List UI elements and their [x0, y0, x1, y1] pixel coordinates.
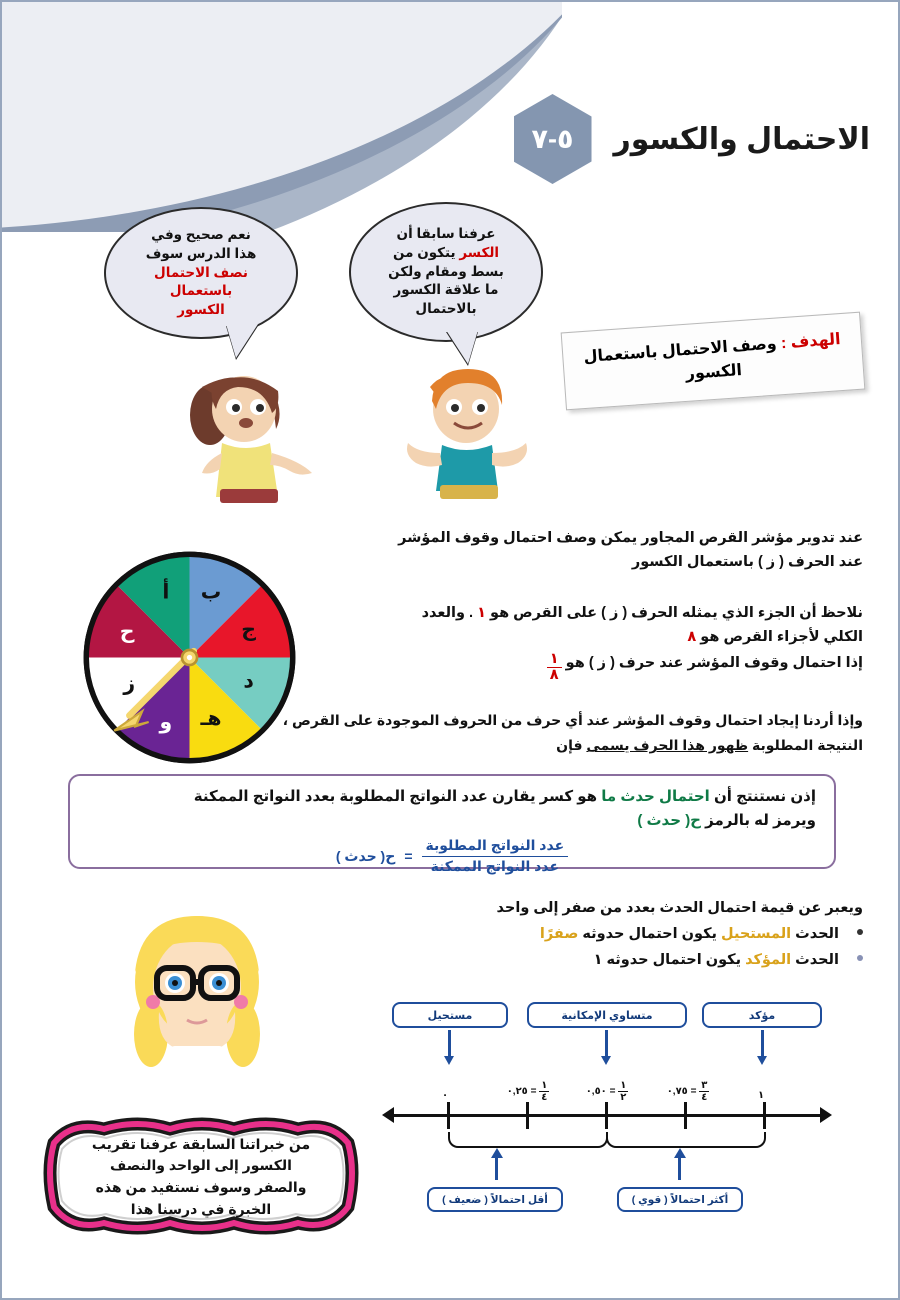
- category-box-impossible: مستحيل: [392, 1002, 508, 1028]
- brace-upper-half: [606, 1132, 766, 1148]
- formula-equals: =: [404, 848, 412, 864]
- speech-bubble-girl: نعم صحيح وفي هذا الدرس سوف نصف الاحتمال …: [104, 207, 298, 339]
- observe-line3-text: إذا احتمال وقوف المؤشر عند حرف ( ز ) هو: [566, 655, 863, 671]
- bullet-impossible-event: الحدث المستحيل يكون احتمال حدوثه صفرًا: [363, 926, 863, 942]
- likelihood-box-more-likely: أكثر احتمالاً ( قوي ): [617, 1187, 743, 1212]
- bullet-1-highlight: المستحيل: [721, 926, 791, 942]
- fraction-quarter-den: ٤: [541, 1092, 547, 1103]
- generalize-line2-a: فإن: [556, 737, 582, 753]
- bullet-2-suffix: ١: [594, 952, 603, 968]
- observe-line2: الكلي لأجزاء القرص هو ٨: [358, 626, 863, 650]
- bullet-1-middle: يكون احتمال حدوثه: [582, 926, 717, 942]
- number-line-endpoint-one: ١: [758, 1090, 764, 1101]
- observe-line1: نلاحظ أن الجزء الذي يمثله الحرف ( ز ) عل…: [358, 602, 863, 626]
- girl-character-illustration: [172, 357, 322, 507]
- axis-tick: [684, 1102, 687, 1129]
- intro-line1: عند تدوير مؤشر القرص المجاور يمكن وصف اح…: [358, 527, 863, 551]
- formula-fraction: عدد النواتج المطلوبة عدد النواتج الممكنة: [422, 837, 569, 875]
- fraction-half-num: ١: [618, 1080, 628, 1092]
- formula-denominator: عدد النواتج الممكنة: [422, 857, 569, 876]
- bullet-certain-event: الحدث المؤكد يكون احتمال حدوثه ١: [363, 952, 863, 968]
- bubble-boy-line5: بالاحتمال: [388, 300, 504, 319]
- generalize-line2: النتيجة المطلوبة ظهور هذا الحرف يسمى فإن: [68, 733, 863, 758]
- bubble-boy-line4: ما علاقة الكسور: [388, 281, 504, 300]
- probability-fraction-numerator: ١: [547, 652, 562, 668]
- speech-bubble-girl-tail: [226, 324, 258, 358]
- fraction-tq-decimal: ٠,٧٥: [667, 1086, 688, 1097]
- bullet-dot-icon: [857, 929, 863, 935]
- boy-character-illustration: [392, 357, 542, 507]
- corner-decoration: [2, 2, 562, 232]
- svg-text:ب: ب: [201, 579, 222, 603]
- speech-bubble-boy: عرفنا سابقا أن الكسر يتكون من بسط ومقام …: [349, 202, 543, 342]
- pink-note-text: من خبراتنا السابقة عرفنا تقريب الكسور إل…: [42, 1117, 360, 1237]
- goal-label: الهدف :: [780, 331, 841, 352]
- intro-line2: عند الحرف ( ز ) باستعمال الكسور: [358, 551, 863, 575]
- page-title: الاحتمال والكسور: [614, 122, 870, 157]
- bubble-boy-line3: بسط ومقام ولكن: [388, 263, 504, 282]
- arrow-up-icon: [491, 1148, 503, 1158]
- formula-numerator: عدد النواتج المطلوبة: [422, 837, 569, 857]
- fraction-half-den: ٢: [620, 1092, 626, 1103]
- fraction-tq-eq: =: [691, 1086, 697, 1097]
- observe-line3: إذا احتمال وقوف المؤشر عند حرف ( ز ) هو …: [358, 652, 863, 683]
- fraction-half-decimal: ٠,٥٠: [586, 1086, 607, 1097]
- probability-number-line-diagram: مستحيل متساوي الإمكانية مؤكد ٠ ١ ١ ٤ = ٠…: [392, 1002, 822, 1212]
- pink-note-line1: من خبراتنا السابقة عرفنا تقريب: [92, 1134, 310, 1156]
- bubble-boy-line1: عرفنا سابقا أن: [388, 225, 504, 244]
- pink-note-frame: من خبراتنا السابقة عرفنا تقريب الكسور إل…: [42, 1117, 360, 1237]
- arrow-down-icon: [757, 1056, 767, 1065]
- likelihood-box-less-likely: أقل احتمالاً ( ضعيف ): [427, 1187, 563, 1212]
- fraction-quarter-num: ١: [539, 1080, 549, 1092]
- fraction-half-eq: =: [610, 1086, 616, 1097]
- fraction-three-quarters: ٣ ٤: [699, 1080, 709, 1103]
- category-box-equally-likely: متساوي الإمكانية: [527, 1002, 687, 1028]
- arrow-down-icon: [444, 1056, 454, 1065]
- svg-text:ج: ج: [241, 617, 256, 642]
- svg-text:أ: أ: [162, 577, 169, 603]
- observe-line1-a: نلاحظ أن الجزء الذي يمثله الحرف ( ز ) عل…: [490, 605, 863, 621]
- definition-box: إذن نستنتج أن احتمال حدث ما هو كسر يقارن…: [68, 774, 836, 869]
- bubble-girl-line5: الكسور: [146, 301, 257, 320]
- definition-line2-symbol: ح( حدث ): [637, 812, 701, 829]
- brace-lower-half: [448, 1132, 608, 1148]
- definition-line1-a: إذن نستنتج أن: [714, 788, 816, 805]
- definition-line2: ويرمز له بالرمز ح( حدث ): [88, 809, 816, 833]
- definition-line1-highlight: احتمال حدث ما: [601, 788, 710, 805]
- svg-text:ز: ز: [122, 671, 135, 695]
- svg-text:د: د: [243, 669, 253, 693]
- fraction-tq-num: ٣: [699, 1080, 709, 1092]
- observe-line1-b: . والعدد: [422, 605, 474, 621]
- observe-line2-a: الكلي لأجزاء القرص هو: [700, 629, 863, 645]
- fraction-label-three-quarters: ٣ ٤ = ٠,٧٥: [648, 1080, 728, 1103]
- fraction-quarter: ١ ٤: [539, 1080, 549, 1103]
- bubble-girl-line4: باستعمال: [146, 282, 257, 301]
- pink-note-line4: الخبرة في درسنا هذا: [92, 1199, 310, 1221]
- pink-note-line3: والصفر وسوف نستفيد من هذه: [92, 1177, 310, 1199]
- arrow-stem-impossible: [448, 1030, 451, 1058]
- definition-line2-a: ويرمز له بالرمز: [705, 812, 816, 829]
- worksheet-page: الاحتمال والكسور ٥-٧ نعم صحيح وفي هذا ال…: [0, 0, 900, 1300]
- probability-formula: عدد النواتج المطلوبة عدد النواتج الممكنة…: [88, 837, 816, 875]
- bubble-boy-line2: الكسر يتكون من: [388, 244, 504, 263]
- definition-line1-b: هو كسر يقارن عدد النواتج المطلوبة بعدد ا…: [194, 788, 597, 805]
- arrow-down-icon: [601, 1056, 611, 1065]
- lesson-goal-note: الهدف : وصف الاحتمال باستعمال الكسور: [561, 312, 866, 411]
- bullet-1-suffix: صفرًا: [540, 926, 578, 942]
- generalize-line2-b: النتيجة المطلوبة: [752, 737, 863, 753]
- fraction-half: ١ ٢: [618, 1080, 628, 1103]
- axis-tick: [447, 1102, 450, 1129]
- bullet-2-middle: يكون احتمال حدوثه: [606, 952, 741, 968]
- fraction-label-quarter: ١ ٤ = ٠,٢٥: [488, 1080, 568, 1103]
- axis-tick: [763, 1102, 766, 1129]
- axis-arrow-right-icon: [820, 1107, 832, 1123]
- bubble-girl-line3: نصف الاحتمال: [146, 264, 257, 283]
- arrow-up-icon: [674, 1148, 686, 1158]
- probability-fraction-denominator: ٨: [550, 667, 559, 683]
- intro-paragraph: عند تدوير مؤشر القرص المجاور يمكن وصف اح…: [358, 527, 863, 575]
- category-box-certain: مؤكد: [702, 1002, 822, 1028]
- goal-text: وصف الاحتمال باستعمال الكسور: [583, 336, 777, 383]
- generalization-paragraph: وإذا أردنا إيجاد احتمال وقوف المؤشر عند …: [68, 708, 863, 758]
- fraction-tq-den: ٤: [701, 1092, 707, 1103]
- definition-line1: إذن نستنتج أن احتمال حدث ما هو كسر يقارن…: [88, 785, 816, 809]
- blonde-girl-illustration: [97, 902, 297, 1117]
- bullets-intro: ويعبر عن قيمة احتمال الحدث بعدد من صفر إ…: [363, 900, 863, 916]
- bullet-dot-icon: [857, 955, 863, 961]
- fraction-label-half: ١ ٢ = ٠,٥٠: [567, 1080, 647, 1103]
- lesson-number-badge: ٥-٧: [514, 94, 592, 184]
- observation-paragraph: نلاحظ أن الجزء الذي يمثله الحرف ( ز ) عل…: [358, 602, 863, 683]
- number-line-endpoint-zero: ٠: [442, 1090, 448, 1101]
- axis-arrow-left-icon: [382, 1107, 394, 1123]
- svg-text:ح: ح: [120, 619, 135, 643]
- fraction-quarter-eq: =: [531, 1086, 537, 1097]
- arrow-stem-certain: [761, 1030, 764, 1058]
- pink-note-line2: الكسور إلى الواحد والنصف: [92, 1155, 310, 1177]
- probability-fraction: ١ ٨: [547, 652, 562, 683]
- bubble-girl-line1: نعم صحيح وفي: [146, 226, 257, 245]
- bullet-2-highlight: المؤكد: [745, 952, 791, 968]
- bubble-girl-line2: هذا الدرس سوف: [146, 245, 257, 264]
- page-header: الاحتمال والكسور ٥-٧: [514, 94, 870, 184]
- arrow-stem-equal: [605, 1030, 608, 1058]
- generalize-line1: وإذا أردنا إيجاد احتمال وقوف المؤشر عند …: [68, 708, 863, 733]
- observe-line1-num: ١: [477, 605, 486, 621]
- bullet-2-prefix: الحدث: [795, 952, 839, 968]
- axis-tick: [605, 1102, 608, 1129]
- observe-line2-num: ٨: [687, 629, 696, 645]
- formula-lhs: ح( حدث ): [336, 848, 395, 865]
- axis-tick: [526, 1102, 529, 1129]
- bullet-1-prefix: الحدث: [795, 926, 839, 942]
- fraction-quarter-decimal: ٠,٢٥: [507, 1086, 528, 1097]
- generalize-line2-underlined: ظهور هذا الحرف يسمى: [586, 737, 748, 753]
